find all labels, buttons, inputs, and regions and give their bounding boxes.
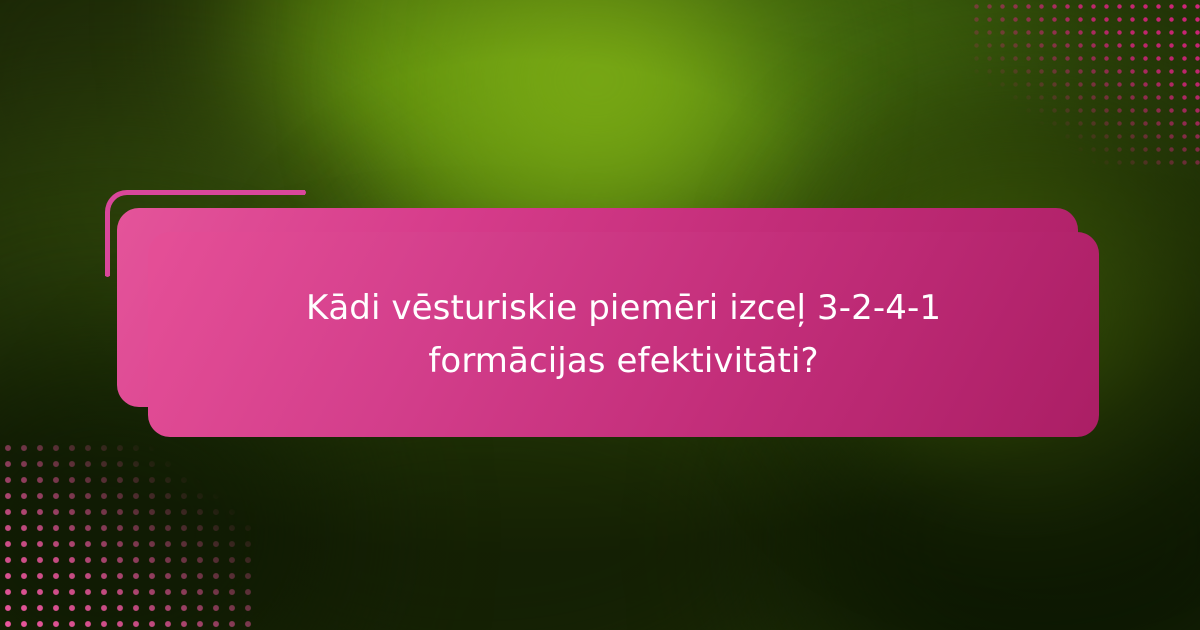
question-card bbox=[148, 232, 1099, 437]
social-card-canvas: Kādi vēsturiskie piemēri izceļ 3-2-4-1 f… bbox=[0, 0, 1200, 630]
halftone-dots-bottom-left-icon bbox=[0, 440, 260, 630]
halftone-dots-top-right-icon bbox=[970, 0, 1200, 170]
